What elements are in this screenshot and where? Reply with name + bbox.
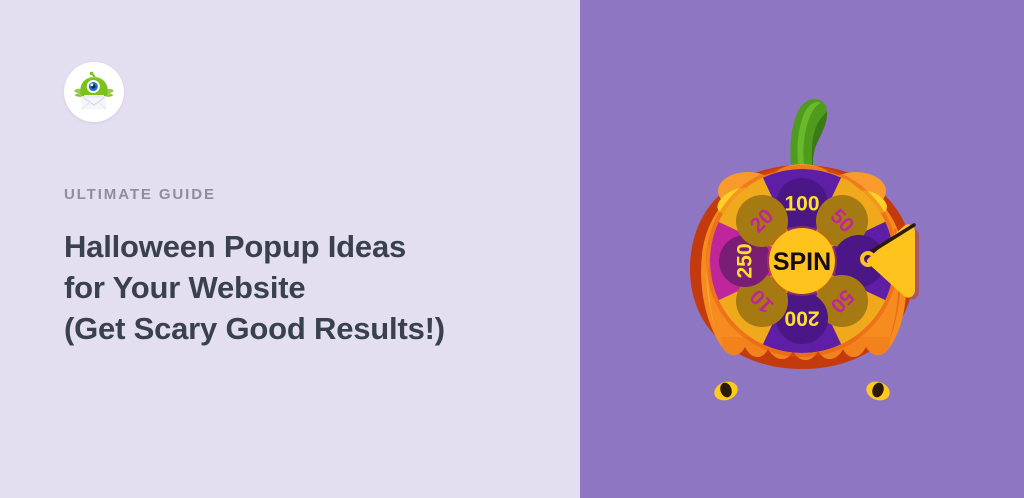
headline-line-3: (Get Scary Good Results!): [64, 309, 484, 350]
pumpkin-stem: [790, 99, 827, 165]
wheel-label-4: 200: [784, 307, 819, 330]
left-content-panel: ULTIMATE GUIDE Halloween Popup Ideas for…: [0, 0, 580, 498]
eyebrow-label: ULTIMATE GUIDE: [64, 187, 520, 202]
spin-button-label: SPIN: [773, 248, 831, 276]
right-illustration-panel: 0%" stop-color="#e43ebd"/> 58%" stop-col…: [580, 0, 1024, 498]
page-title: Halloween Popup Ideas for Your Website (…: [64, 227, 484, 350]
wheel-label-0: 100: [784, 193, 819, 216]
headline-line-1: Halloween Popup Ideas: [64, 227, 484, 268]
wheel-label-6: 250: [734, 243, 757, 278]
monster-eye: [87, 80, 100, 93]
headline-line-2: for Your Website: [64, 268, 484, 309]
envelope: [82, 96, 107, 109]
halloween-pumpkin-spin-wheel[interactable]: 0%" stop-color="#e43ebd"/> 58%" stop-col…: [652, 69, 952, 429]
hero-banner: ULTIMATE GUIDE Halloween Popup Ideas for…: [0, 0, 1024, 498]
spin-button[interactable]: SPIN: [767, 226, 837, 296]
optinmonster-logo[interactable]: [64, 62, 124, 122]
